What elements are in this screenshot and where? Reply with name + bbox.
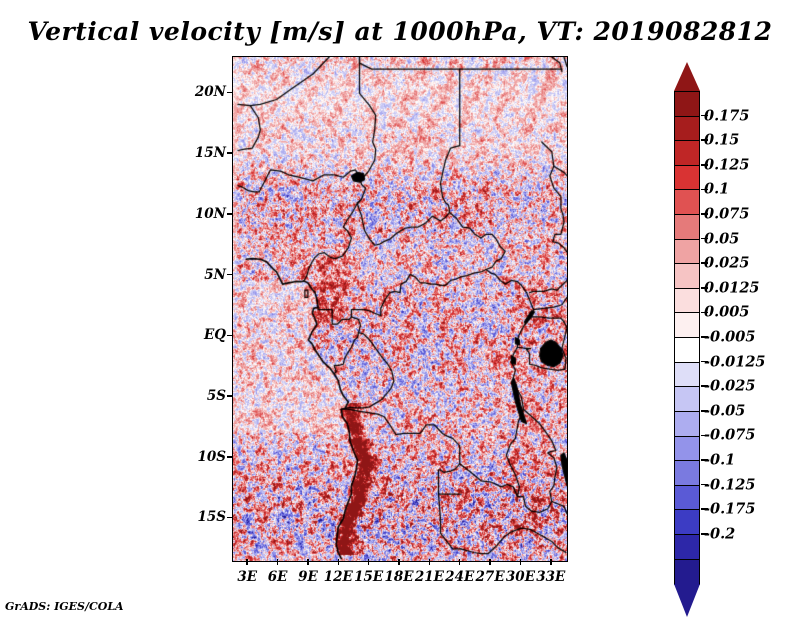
x-axis-tick-mark (307, 559, 309, 565)
x-axis-tick-label: 3E (237, 569, 257, 585)
x-axis-tick-label: 12E (324, 569, 353, 585)
colorbar-cell (674, 239, 700, 265)
x-axis-tick-mark (520, 559, 522, 565)
colorbar-cell (674, 460, 700, 486)
colorbar-min-arrow-icon (674, 584, 700, 617)
y-axis-tick-mark (227, 335, 233, 337)
x-axis-tick-mark (550, 559, 552, 565)
x-axis-tick-mark (277, 559, 279, 565)
colorbar-tick-label: 0.075 (704, 206, 749, 223)
x-axis-tick-label: 15E (354, 569, 383, 585)
colorbar-tick-label: 0.005 (704, 304, 749, 321)
grads-plot-page: Vertical velocity [m/s] at 1000hPa, VT: … (0, 0, 800, 618)
x-axis-tick-mark (398, 559, 400, 565)
colorbar-tick-label: 0.1 (704, 181, 729, 198)
x-axis-tick-label: 6E (268, 569, 288, 585)
y-axis-tick-label: 10N (188, 206, 226, 222)
colorbar-cell (674, 263, 700, 289)
y-axis-tick-mark (227, 274, 233, 276)
x-axis-tick-mark (368, 559, 370, 565)
colorbar-tick-label: -0.1 (704, 452, 735, 469)
footer-credit: GrADS: IGES/COLA (5, 600, 124, 613)
x-axis-tick-mark (246, 559, 248, 565)
y-axis-tick-label: 5N (188, 267, 226, 283)
x-axis-tick-mark (429, 559, 431, 565)
page-title: Vertical velocity [m/s] at 1000hPa, VT: … (0, 17, 800, 46)
colorbar-cell (674, 362, 700, 388)
colorbar-tick-label: -0.2 (704, 525, 735, 542)
x-axis-tick-label: 27E (476, 569, 505, 585)
colorbar-cell (674, 140, 700, 166)
y-axis-tick-mark (227, 456, 233, 458)
colorbar-cells (674, 91, 700, 585)
y-axis-tick-mark (227, 395, 233, 397)
colorbar-cell (674, 485, 700, 511)
x-axis-tick-label: 18E (384, 569, 413, 585)
colorbar-max-arrow-icon (674, 62, 700, 91)
y-axis-tick-mark (227, 152, 233, 154)
x-axis-tick-label: 30E (506, 569, 535, 585)
colorbar-cell (674, 559, 700, 585)
colorbar-cell (674, 534, 700, 560)
colorbar-cell (674, 312, 700, 338)
colorbar-cell (674, 189, 700, 215)
colorbar-cell (674, 509, 700, 535)
y-axis-tick-label: 20N (188, 84, 226, 100)
x-axis-tick-mark (489, 559, 491, 565)
x-axis-tick-label: 21E (415, 569, 444, 585)
colorbar-tick-label: -0.025 (704, 378, 755, 395)
vertical-velocity-heatmap (233, 57, 567, 561)
colorbar-cell (674, 214, 700, 240)
y-axis-tick-label: 15S (188, 509, 226, 525)
colorbar-tick-label: -0.125 (704, 476, 755, 493)
y-axis-tick-label: 15N (188, 145, 226, 161)
y-axis-tick-label: 10S (188, 449, 226, 465)
colorbar-cell (674, 288, 700, 314)
colorbar-cell (674, 116, 700, 142)
colorbar-cell (674, 337, 700, 363)
x-axis-tick-label: 33E (536, 569, 565, 585)
x-axis-tick-label: 9E (298, 569, 318, 585)
y-axis-tick-mark (227, 517, 233, 519)
y-axis-tick-mark (227, 213, 233, 215)
colorbar-cell (674, 436, 700, 462)
colorbar-tick-label: -0.05 (704, 402, 745, 419)
colorbar-tick-label: -0.075 (704, 427, 755, 444)
colorbar-tick-label: 0.0125 (704, 279, 760, 296)
colorbar-tick-label: -0.175 (704, 501, 755, 518)
colorbar-tick-label: 0.175 (704, 107, 749, 124)
x-axis-tick-mark (338, 559, 340, 565)
x-axis-tick-mark (459, 559, 461, 565)
x-axis-tick-label: 24E (445, 569, 474, 585)
colorbar-cell (674, 91, 700, 117)
colorbar-cell (674, 411, 700, 437)
y-axis-tick-mark (227, 92, 233, 94)
colorbar-tick-label: -0.0125 (704, 353, 766, 370)
map-plot-area (232, 56, 568, 562)
y-axis-tick-label: 5S (188, 388, 226, 404)
colorbar-cell (674, 386, 700, 412)
colorbar-tick-label: -0.005 (704, 329, 755, 346)
colorbar-tick-label: 0.05 (704, 230, 739, 247)
colorbar-tick-label: 0.125 (704, 156, 749, 173)
colorbar-cell (674, 165, 700, 191)
colorbar-tick-label: 0.025 (704, 255, 749, 272)
colorbar-tick-label: 0.15 (704, 132, 739, 149)
y-axis-tick-label: EQ (188, 327, 226, 343)
